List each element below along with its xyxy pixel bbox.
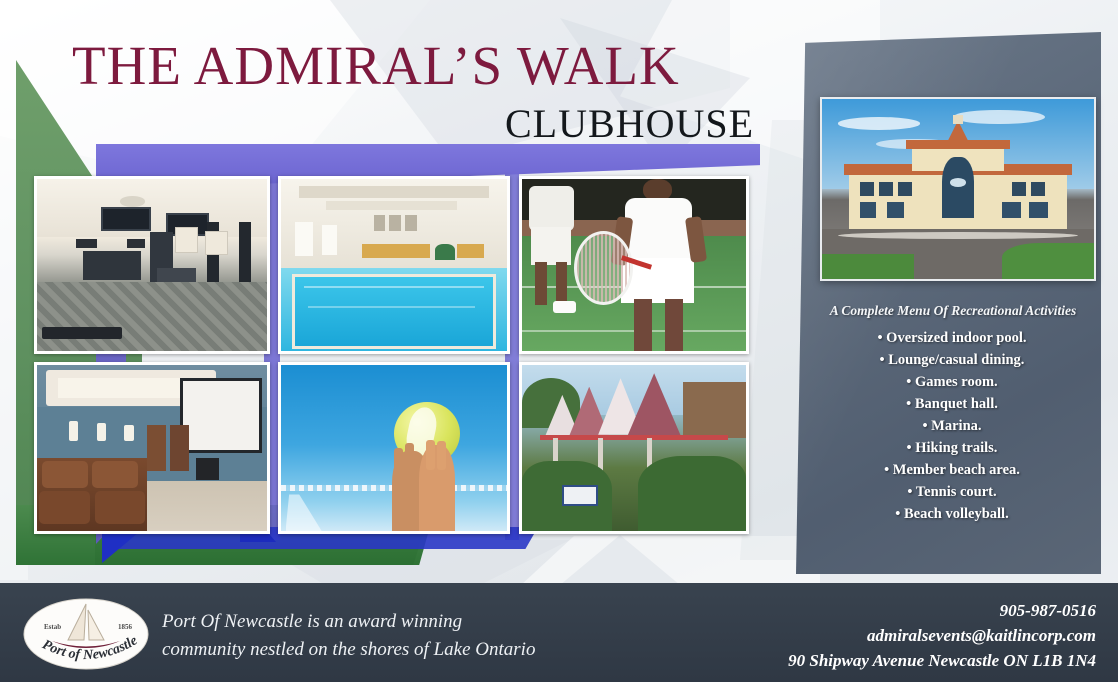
activities-list: • Oversized indoor pool. • Lounge/casual… xyxy=(806,327,1098,525)
footer-contact: 905-987-0516 admiralsevents@kaitlincorp.… xyxy=(788,598,1096,673)
contact-email[interactable]: admiralsevents@kaitlincorp.com xyxy=(788,623,1096,648)
tagline-line-1: Port Of Newcastle is an award winning xyxy=(162,608,535,636)
fitness-centre-photo xyxy=(34,176,270,354)
menu-heading: A Complete Menu Of Recreational Activiti… xyxy=(808,303,1098,319)
contact-address: 90 Shipway Avenue Newcastle ON L1B 1N4 xyxy=(788,648,1096,673)
theatre-room-photo xyxy=(34,362,270,534)
page-title: THE ADMIRAL’S WALK xyxy=(72,34,680,97)
indoor-pool-photo xyxy=(278,176,510,354)
activity-item: • Member beach area. xyxy=(806,459,1098,481)
activity-item: • Oversized indoor pool. xyxy=(806,327,1098,349)
activity-item: • Tennis court. xyxy=(806,481,1098,503)
logo-estab-label: Estab xyxy=(44,623,61,631)
activity-item: • Lounge/casual dining. xyxy=(806,349,1098,371)
activity-item: • Banquet hall. xyxy=(806,393,1098,415)
logo-estab-year: 1856 xyxy=(118,623,133,631)
clubhouse-building-photo xyxy=(820,97,1096,281)
tennis-players-photo xyxy=(519,176,749,354)
tagline-line-2: community nestled on the shores of Lake … xyxy=(162,636,535,664)
activity-item: • Games room. xyxy=(806,371,1098,393)
poster-canvas: THE ADMIRAL’S WALK CLUBHOUSE xyxy=(0,0,1118,682)
patio-dining-photo xyxy=(519,362,749,534)
activity-item: • Marina. xyxy=(806,415,1098,437)
activity-item: • Hiking trails. xyxy=(806,437,1098,459)
beach-volleyball-photo xyxy=(278,362,510,534)
contact-phone[interactable]: 905-987-0516 xyxy=(788,598,1096,623)
port-of-newcastle-logo: Estab 1856 Port of Newcastle xyxy=(22,596,150,672)
footer-tagline: Port Of Newcastle is an award winning co… xyxy=(162,608,535,664)
page-subtitle: CLUBHOUSE xyxy=(505,100,754,147)
activity-item: • Beach volleyball. xyxy=(806,503,1098,525)
